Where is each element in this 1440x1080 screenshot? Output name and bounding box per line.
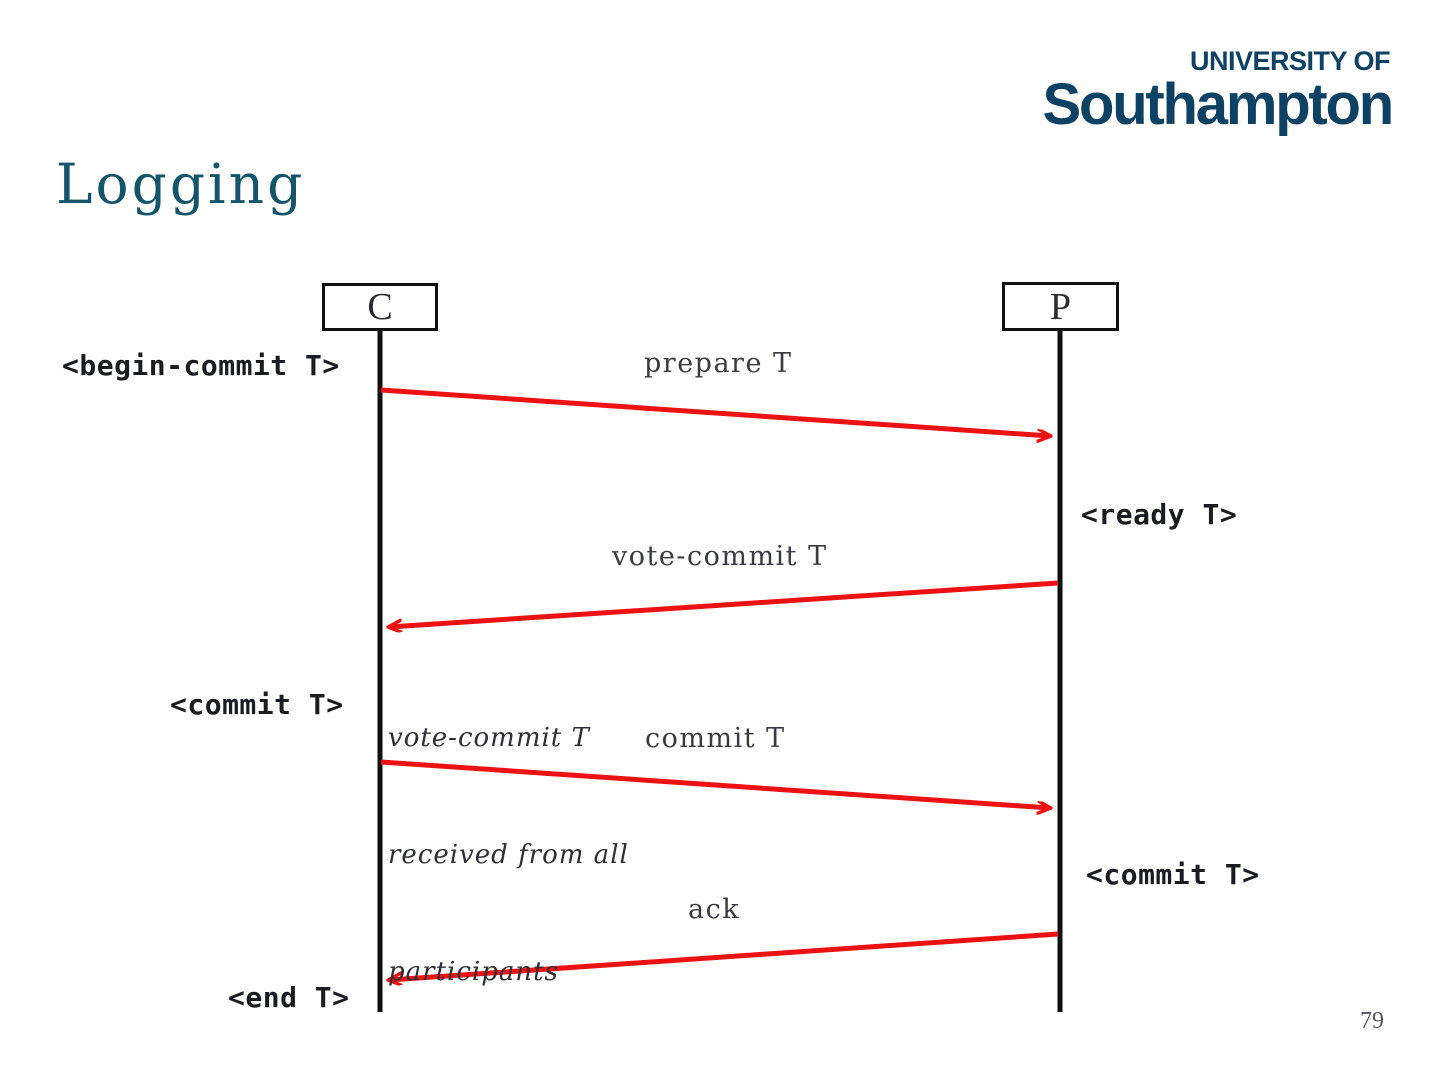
- message-label-prepare-t: prepare T: [644, 348, 793, 379]
- note-line-2: received from all: [388, 836, 629, 875]
- page-number: 79: [1360, 1008, 1384, 1035]
- log-record-ready: <ready T>: [1081, 498, 1237, 531]
- note-vote-commit-received: vote-commit T received from all particip…: [388, 641, 629, 1070]
- actor-label-c: C: [367, 285, 392, 329]
- actor-label-p: P: [1050, 285, 1071, 329]
- arrow-prepare-t: [381, 390, 1050, 436]
- note-line-1: vote-commit T: [388, 719, 629, 758]
- message-label-ack: ack: [688, 894, 740, 925]
- note-line-3: participants: [388, 953, 629, 992]
- actor-box-coordinator[interactable]: C: [322, 283, 438, 331]
- message-label-commit-t: commit T: [645, 723, 786, 754]
- log-record-commit-participant: <commit T>: [1086, 858, 1260, 891]
- log-record-commit-coordinator: <commit T>: [170, 688, 344, 721]
- sequence-diagram: C P <begin-commit T> <ready T> <commit T…: [0, 0, 1440, 1080]
- log-record-begin-commit: <begin-commit T>: [62, 349, 340, 382]
- log-record-end: <end T>: [228, 981, 350, 1014]
- actor-box-participant[interactable]: P: [1002, 282, 1119, 331]
- message-label-vote-commit-t: vote-commit T: [612, 541, 828, 572]
- arrow-vote-commit-t: [389, 583, 1058, 627]
